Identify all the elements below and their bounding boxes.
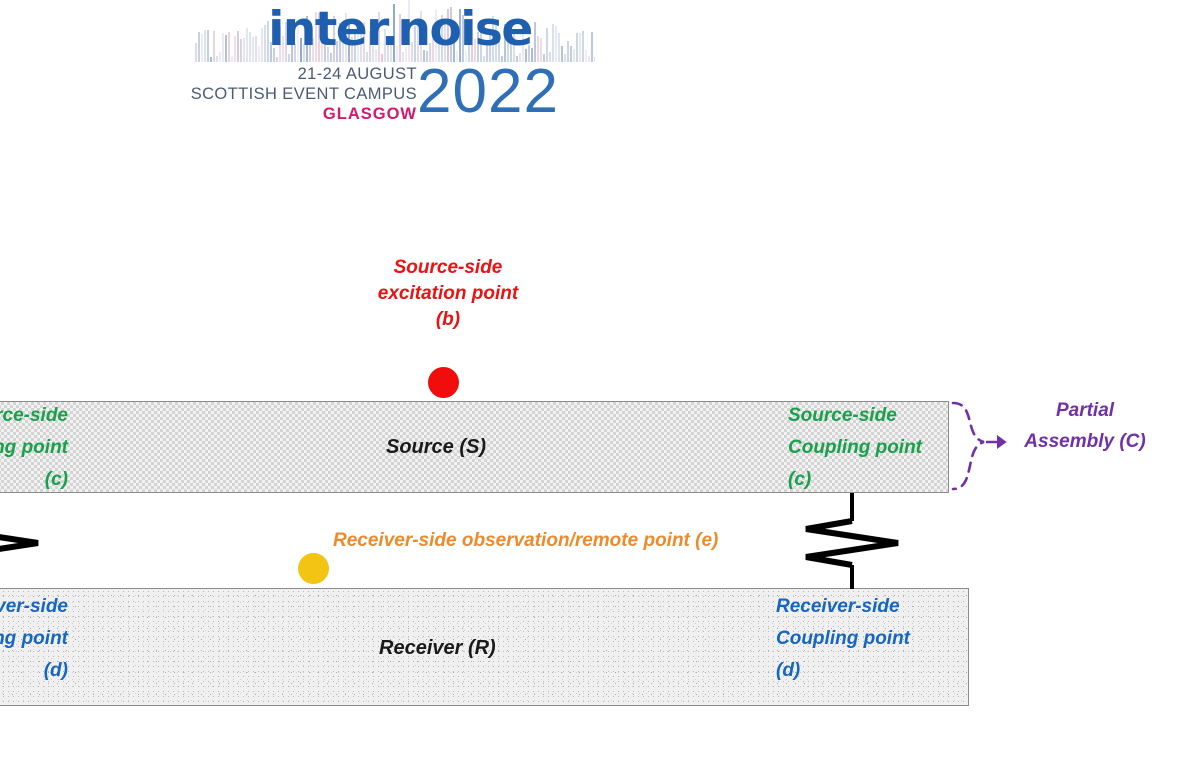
source-side-coupling-point-label-right: Source-side Coupling point (c) [788,400,938,496]
source-side-coupling-point-label-left: Source-side Coupling point (c) [0,400,68,496]
receiver-side-observation-point-label: Receiver-side observation/remote point (… [333,527,733,555]
screenshot-root: inter.noise 21-24 AUGUST SCOTTISH EVENT … [0,0,1186,758]
spring-coupling-element-left [0,493,38,589]
receiver-side-coupling-point-label-right: Receiver-side Coupling point (d) [776,591,936,687]
partial-assembly-dashed-brace [953,403,1005,489]
source-receiver-assembly-diagram: Source (S) Receiver (R) [0,0,1186,758]
partial-assembly-label: Partial Assembly (C) [1010,395,1160,457]
source-side-excitation-point-marker [428,367,459,398]
source-side-excitation-point-label: Source-side excitation point (b) [368,255,528,333]
receiver-block-label: Receiver (R) [379,637,496,660]
receiver-side-observation-point-marker [298,553,329,584]
spring-coupling-element-right [806,493,898,589]
source-block-label: Source (S) [386,436,486,459]
receiver-side-coupling-point-label-left: Receiver-side Coupling point (d) [0,591,68,687]
